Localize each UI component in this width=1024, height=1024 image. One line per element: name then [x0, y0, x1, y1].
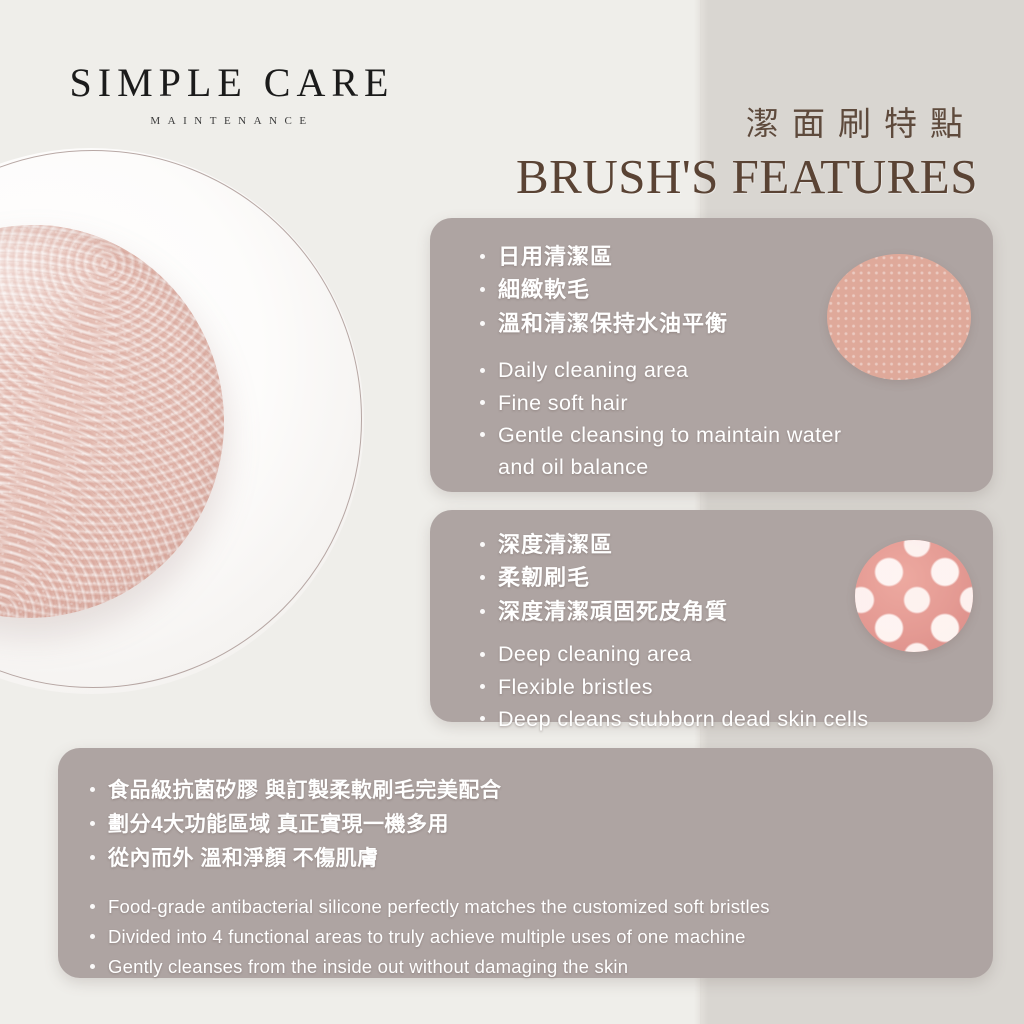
- list-item: Divided into 4 functional areas to truly…: [88, 922, 967, 952]
- daily-english-bullets: Daily cleaning area Fine soft hair Gentl…: [478, 354, 841, 483]
- brand-tagline: MAINTENANCE: [62, 115, 402, 127]
- page-title-english: BRUSH'S FEATURES: [516, 148, 978, 205]
- deep-nub-closeup-image: [855, 540, 973, 652]
- deep-nub-texture: [855, 540, 973, 652]
- deep-cleaning-card: 深度清潔區 柔韌刷毛 深度清潔頑固死皮角質 Deep cleaning area…: [430, 510, 993, 722]
- list-item: Food-grade antibacterial silicone perfec…: [88, 892, 967, 922]
- list-item: 深度清潔頑固死皮角質: [478, 595, 869, 628]
- deep-chinese-bullets: 深度清潔區 柔韌刷毛 深度清潔頑固死皮角質: [478, 528, 869, 628]
- summary-english-bullets: Food-grade antibacterial silicone perfec…: [88, 892, 967, 982]
- list-item: 柔韌刷毛: [478, 561, 869, 594]
- list-item: 食品級抗菌矽膠 與訂製柔軟刷毛完美配合: [88, 774, 967, 808]
- list-item: 深度清潔區: [478, 528, 869, 561]
- list-item: Deep cleans stubborn dead skin cells: [478, 703, 869, 735]
- list-item: 溫和清潔保持水油平衡: [478, 307, 841, 340]
- brand-logo: SIMPLE CARE MAINTENANCE: [62, 63, 402, 127]
- list-item: 從內而外 溫和淨顏 不傷肌膚: [88, 842, 967, 876]
- summary-card: 食品級抗菌矽膠 與訂製柔軟刷毛完美配合 劃分4大功能區域 真正實現一機多用 從內…: [58, 748, 993, 978]
- fine-bristle-closeup-image: [827, 254, 971, 380]
- brand-name: SIMPLE CARE: [62, 63, 402, 103]
- daily-card-text: 日用清潔區 細緻軟毛 溫和清潔保持水油平衡 Daily cleaning are…: [478, 240, 841, 483]
- list-item-line1: Gentle cleansing to maintain water: [498, 423, 841, 447]
- list-item: 劃分4大功能區域 真正實現一機多用: [88, 808, 967, 842]
- list-item: Deep cleaning area: [478, 638, 869, 670]
- list-item: Flexible bristles: [478, 671, 869, 703]
- list-item: 細緻軟毛: [478, 273, 841, 306]
- page-title-chinese: 潔面刷特點: [746, 97, 976, 145]
- list-item: Fine soft hair: [478, 387, 841, 419]
- daily-chinese-bullets: 日用清潔區 細緻軟毛 溫和清潔保持水油平衡: [478, 240, 841, 340]
- infographic-page: SIMPLE CARE MAINTENANCE 潔面刷特點 BRUSH'S FE…: [0, 0, 1024, 1024]
- deep-card-text: 深度清潔區 柔韌刷毛 深度清潔頑固死皮角質 Deep cleaning area…: [478, 528, 869, 735]
- list-item: Gentle cleansing to maintain water and o…: [478, 419, 841, 484]
- list-item: Gently cleanses from the inside out with…: [88, 952, 967, 982]
- deep-english-bullets: Deep cleaning area Flexible bristles Dee…: [478, 638, 869, 735]
- daily-cleaning-card: 日用清潔區 細緻軟毛 溫和清潔保持水油平衡 Daily cleaning are…: [430, 218, 993, 492]
- fine-bristle-dots: [827, 254, 971, 380]
- list-item: Daily cleaning area: [478, 354, 841, 386]
- list-item-line2: and oil balance: [498, 451, 841, 483]
- list-item: 日用清潔區: [478, 240, 841, 273]
- summary-card-text: 食品級抗菌矽膠 與訂製柔軟刷毛完美配合 劃分4大功能區域 真正實現一機多用 從內…: [88, 774, 967, 982]
- summary-chinese-bullets: 食品級抗菌矽膠 與訂製柔軟刷毛完美配合 劃分4大功能區域 真正實現一機多用 從內…: [88, 774, 967, 876]
- product-photo: [0, 148, 364, 694]
